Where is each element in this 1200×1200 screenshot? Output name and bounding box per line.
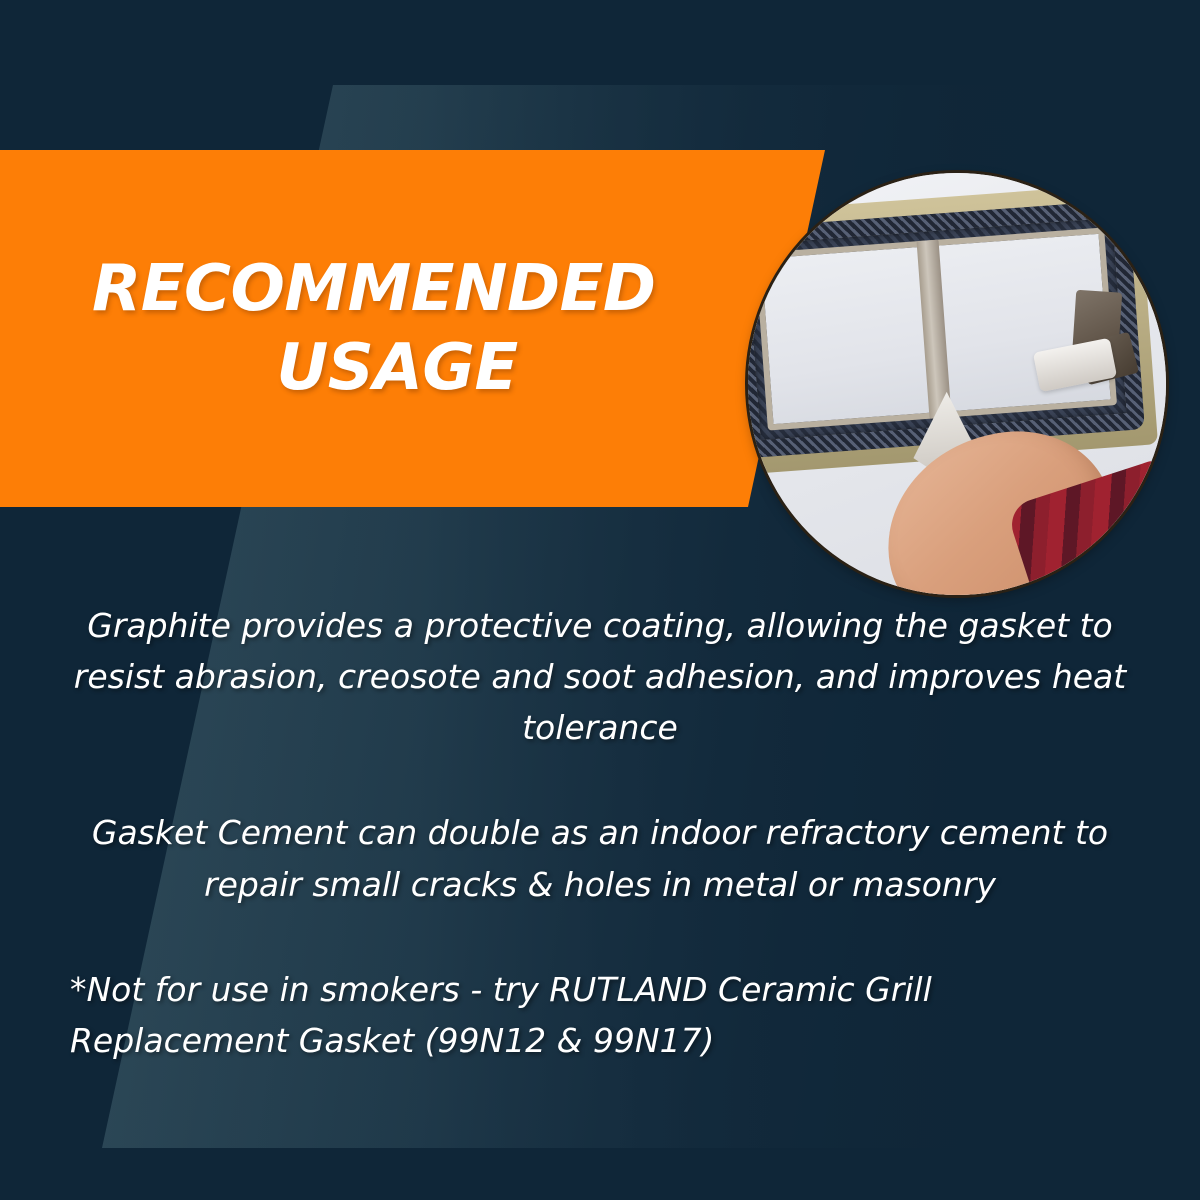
page-title: RECOMMENDED USAGE — [0, 150, 760, 507]
photo-content — [748, 173, 1166, 595]
body-paragraph-smoker-note: *Not for use in smokers - try RUTLAND Ce… — [0, 964, 1200, 1066]
title-line-recommended: RECOMMENDED — [92, 250, 720, 328]
body-paragraph-refractory: Gasket Cement can double as an indoor re… — [0, 807, 1200, 909]
product-info-graphic: RECOMMENDED USAGE Graphite provides a pr… — [0, 0, 1200, 1200]
body-copy: Graphite provides a protective coating, … — [0, 600, 1200, 1066]
body-paragraph-graphite: Graphite provides a protective coating, … — [0, 600, 1200, 753]
title-line-usage: USAGE — [92, 329, 720, 407]
stove-door-gasket-photo — [748, 173, 1166, 595]
